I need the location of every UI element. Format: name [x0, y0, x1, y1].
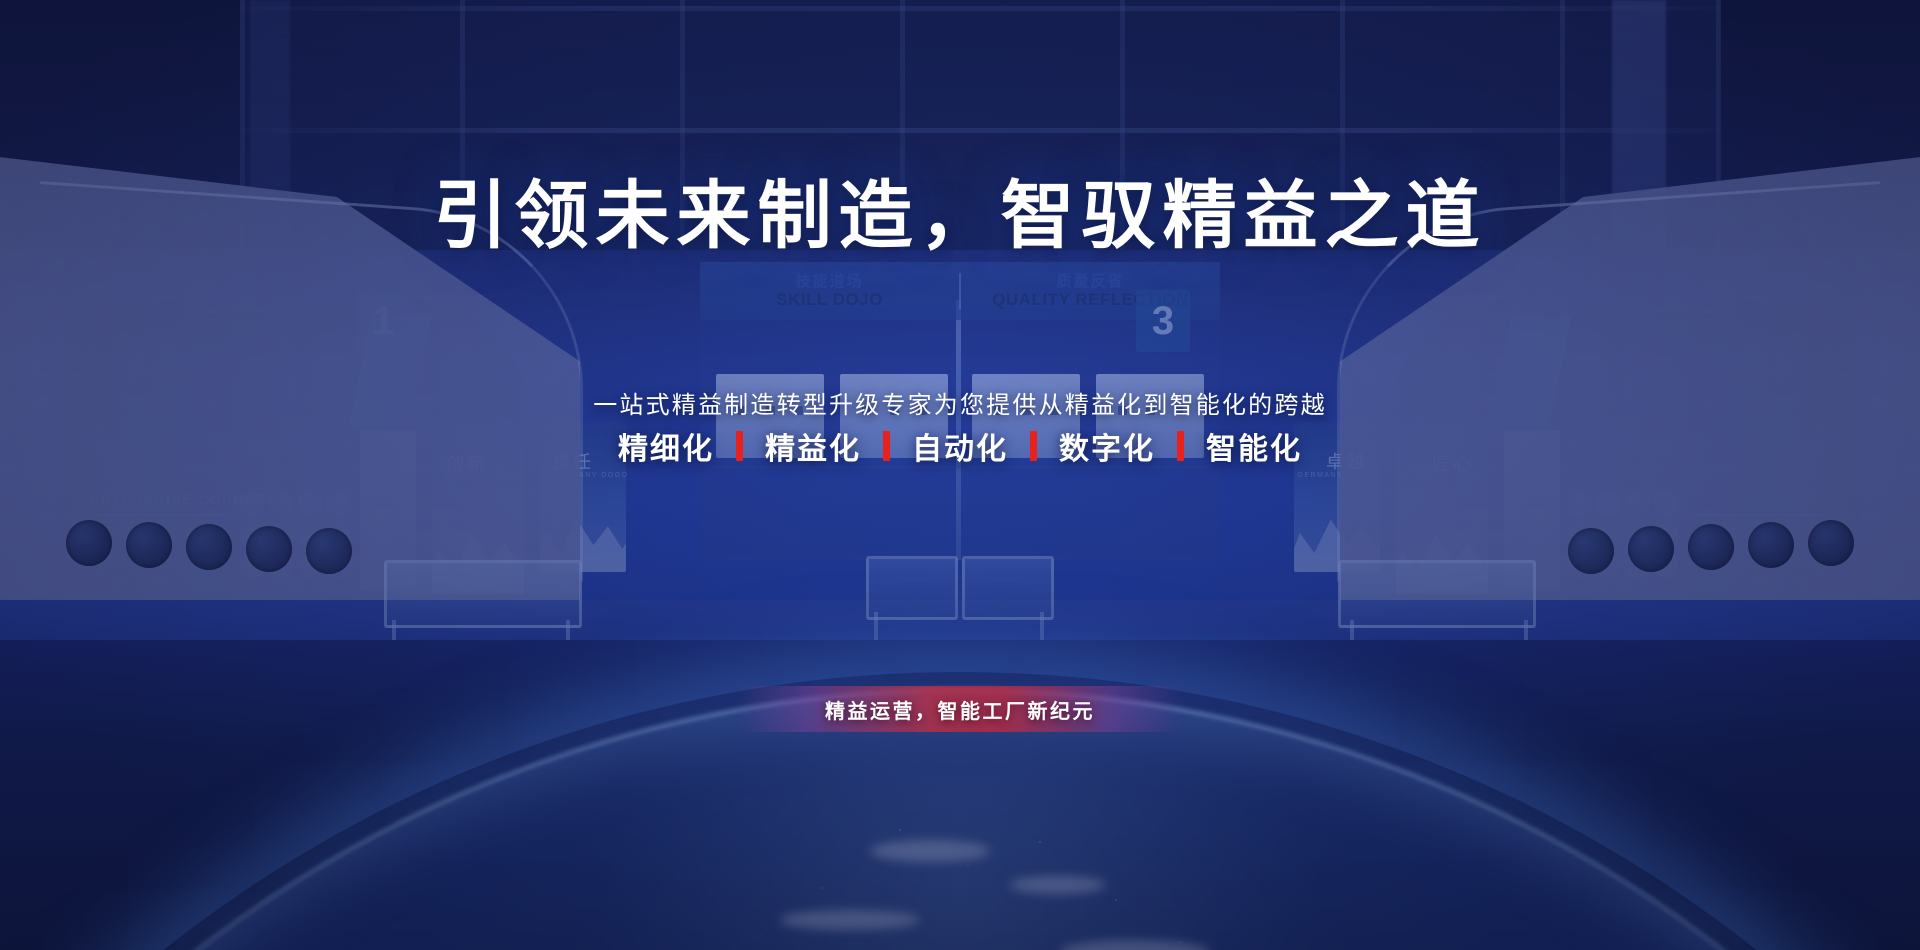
hero-banner: 技能道场 SKILL DOJO 质量反省 QUALITY REFLECTION … [0, 0, 1920, 950]
keyword-item-5: 智能化 [1206, 424, 1302, 468]
banner-headline: 引领未来制造，智驭精益之道 [0, 176, 1920, 256]
banner-subtitle: 一站式精益制造转型升级专家为您提供从精益化到智能化的跨越 [0, 385, 1920, 420]
banner-content: 引领未来制造，智驭精益之道 一站式精益制造转型升级专家为您提供从精益化到智能化的… [0, 0, 1920, 950]
keyword-separator-icon [1177, 431, 1184, 461]
banner-keyword-list: 精细化 精益化 自动化 数字化 智能化 [0, 424, 1920, 468]
keyword-item-1: 精细化 [618, 424, 714, 468]
banner-tagline-text: 精益运营，智能工厂新纪元 [825, 695, 1095, 724]
keyword-item-2: 精益化 [765, 424, 861, 468]
keyword-separator-icon [736, 431, 743, 461]
keyword-separator-icon [1030, 431, 1037, 461]
banner-tagline-badge: 精益运营，智能工厂新纪元 [736, 686, 1184, 732]
keyword-item-4: 数字化 [1059, 424, 1155, 468]
keyword-separator-icon [883, 431, 890, 461]
keyword-item-3: 自动化 [912, 424, 1008, 468]
